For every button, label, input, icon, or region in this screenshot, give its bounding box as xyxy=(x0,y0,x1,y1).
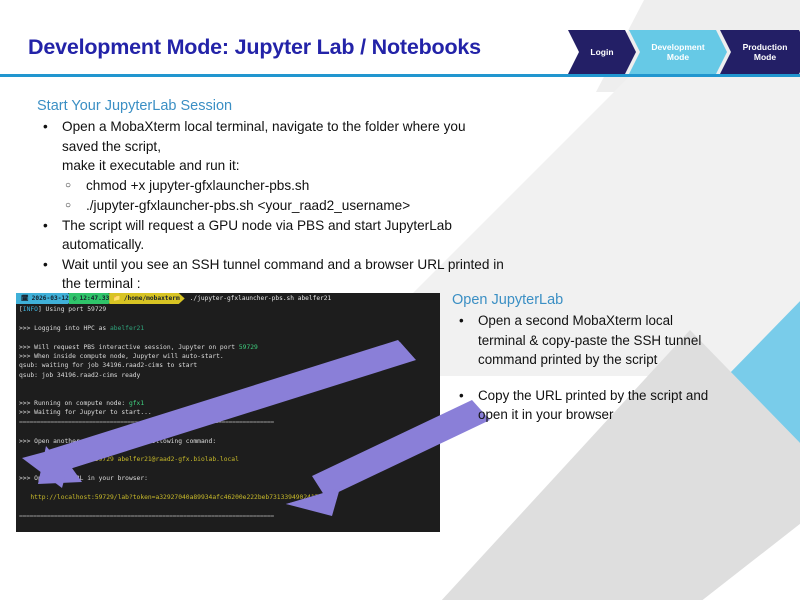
title-bar: Development Mode: Jupyter Lab / Notebook… xyxy=(28,26,573,68)
terminal-text: qsub: job 34196.raad2-cims ready xyxy=(19,372,140,379)
left-content-block: Start Your JupyterLab Session • Open a M… xyxy=(34,98,504,313)
bullet-marker: • xyxy=(459,386,464,406)
terminal-text: abelfer21 xyxy=(110,325,144,332)
terminal-status-bar: 🗓 2026-03-12 ◴ 12:47.33 📁 /home/mobaxter… xyxy=(16,293,440,304)
breadcrumb-chevron-nav: Login DevelopmentMode ProductionMode xyxy=(568,30,800,74)
list-item: • The script will request a GPU node via… xyxy=(34,216,504,255)
terminal-line xyxy=(19,465,440,474)
terminal-line: >>> Running on compute node: gfx1 xyxy=(19,399,440,408)
left-bullet-list: • Open a MobaXterm local terminal, navig… xyxy=(34,117,504,313)
terminal-text: INFO xyxy=(23,306,38,313)
bullet-text-line1: Wait until you see an SSH tunnel command… xyxy=(62,257,504,292)
terminal-text: >>> Open this URL in your browser: xyxy=(19,475,148,482)
terminal-line: ========================================… xyxy=(19,418,440,427)
list-item: • Copy the URL printed by the script and… xyxy=(452,386,782,425)
terminal-text: ssh -L 59729:gfx1:59729 abelfer21@raad2-… xyxy=(19,456,239,463)
terminal-text: ========================================… xyxy=(19,513,274,520)
terminal-text: http://localhost:59729/lab?token=a329270… xyxy=(19,494,337,501)
list-item: • Open a second MobaXterm local terminal… xyxy=(452,311,782,370)
calendar-icon: 🗓 xyxy=(21,294,29,303)
bullet-text-line1: Copy the URL printed by the script and xyxy=(478,388,708,403)
terminal-line xyxy=(19,380,440,389)
nav-chevron-development-mode[interactable]: DevelopmentMode xyxy=(629,30,727,74)
terminal-text: 59729 xyxy=(239,344,258,351)
bullet-text-line1: Open a second MobaXterm local xyxy=(478,313,673,328)
terminal-line: >>> When inside compute node, Jupyter wi… xyxy=(19,352,440,361)
terminal-date-segment: 🗓 2026-03-12 xyxy=(16,293,74,304)
terminal-line: http://localhost:59729/lab?token=a329270… xyxy=(19,493,440,502)
terminal-line xyxy=(19,333,440,342)
terminal-line xyxy=(19,314,440,323)
left-sub-list: ○ chmod +x jupyter-gfxlauncher-pbs.sh ○ … xyxy=(34,176,504,216)
bullet-marker: • xyxy=(459,311,464,331)
terminal-text: ] Using port 59729 xyxy=(38,306,106,313)
terminal-output-body: [INFO] Using port 59729>>> Logging into … xyxy=(16,304,440,521)
terminal-line: >>> Open another terminal and run follow… xyxy=(19,437,440,446)
terminal-time-value: 12:47.33 xyxy=(80,294,110,303)
terminal-path-value: /home/mobaxterm xyxy=(124,294,180,303)
bullet-marker: • xyxy=(43,117,48,137)
sub-bullet-text: ./jupyter-gfxlauncher-pbs.sh <your_raad2… xyxy=(86,198,410,213)
bullet-marker: • xyxy=(43,255,48,275)
terminal-command-text: ./jupyter-gfxlauncher-pbs.sh abelfer21 xyxy=(180,293,332,304)
terminal-path-segment: 📁 /home/mobaxterm xyxy=(109,293,184,304)
bullet-text-line2: make it executable and run it: xyxy=(62,158,240,173)
terminal-time-segment: ◴ 12:47.33 xyxy=(69,293,114,304)
terminal-text: >>> Logging into HPC as xyxy=(19,325,110,332)
terminal-line xyxy=(19,390,440,399)
right-content-block: Open JupyterLab • Open a second MobaXter… xyxy=(452,292,782,425)
list-item: ○ chmod +x jupyter-gfxlauncher-pbs.sh xyxy=(34,176,504,196)
terminal-line: qsub: job 34196.raad2-cims ready xyxy=(19,371,440,380)
sub-bullet-text: chmod +x jupyter-gfxlauncher-pbs.sh xyxy=(86,178,309,193)
terminal-line: ssh -L 59729:gfx1:59729 abelfer21@raad2-… xyxy=(19,455,440,464)
terminal-line: >>> Open this URL in your browser: xyxy=(19,474,440,483)
terminal-line xyxy=(19,502,440,511)
sub-bullet-marker: ○ xyxy=(65,176,71,196)
list-item: • Open a MobaXterm local terminal, navig… xyxy=(34,117,504,176)
nav-chevron-login[interactable]: Login xyxy=(568,30,636,74)
left-section-heading: Start Your JupyterLab Session xyxy=(37,98,504,114)
terminal-line: >>> Waiting for Jupyter to start... xyxy=(19,408,440,417)
terminal-date-value: 2026-03-12 xyxy=(32,294,69,303)
terminal-screenshot: 🗓 2026-03-12 ◴ 12:47.33 📁 /home/mobaxter… xyxy=(16,293,440,532)
folder-icon: 📁 xyxy=(113,294,120,303)
bullet-marker: • xyxy=(43,216,48,236)
terminal-line xyxy=(19,427,440,436)
bullet-text-line1: Open a MobaXterm local terminal, navigat… xyxy=(62,119,466,154)
terminal-text: >>> Running on compute node: xyxy=(19,400,129,407)
terminal-text: ========================================… xyxy=(19,419,274,426)
decor-white-notch xyxy=(700,520,800,600)
terminal-line: qsub: waiting for job 34196.raad2-cims t… xyxy=(19,361,440,370)
terminal-line xyxy=(19,446,440,455)
nav-chevron-production-mode-label: ProductionMode xyxy=(743,42,788,63)
terminal-text: >>> Will request PBS interactive session… xyxy=(19,344,239,351)
list-spacer xyxy=(452,370,782,386)
nav-chevron-login-label: Login xyxy=(590,47,613,58)
bullet-text-line3: command printed by the script xyxy=(478,352,657,367)
right-bullet-list: • Open a second MobaXterm local terminal… xyxy=(452,311,782,425)
page-title: Development Mode: Jupyter Lab / Notebook… xyxy=(28,26,573,68)
clock-icon: ◴ xyxy=(73,294,77,303)
nav-chevron-development-mode-label: DevelopmentMode xyxy=(651,42,704,63)
terminal-line: ========================================… xyxy=(19,512,440,521)
terminal-line: >>> Logging into HPC as abelfer21 xyxy=(19,324,440,333)
terminal-text: gfx1 xyxy=(129,400,144,407)
terminal-text: qsub: waiting for job 34196.raad2-cims t… xyxy=(19,362,197,369)
terminal-text: >>> Open another terminal and run follow… xyxy=(19,438,216,445)
terminal-text: >>> Waiting for Jupyter to start... xyxy=(19,409,152,416)
terminal-text: >>> When inside compute node, Jupyter wi… xyxy=(19,353,224,360)
bullet-text-line2: terminal & copy-paste the SSH tunnel xyxy=(478,333,701,348)
sub-bullet-marker: ○ xyxy=(65,196,71,216)
terminal-line: [INFO] Using port 59729 xyxy=(19,305,440,314)
bullet-text-line1: The script will request a GPU node via P… xyxy=(62,218,452,253)
title-divider xyxy=(0,74,800,77)
terminal-line xyxy=(19,484,440,493)
slide-canvas: Development Mode: Jupyter Lab / Notebook… xyxy=(0,0,800,600)
nav-chevron-production-mode[interactable]: ProductionMode xyxy=(720,30,800,74)
list-item: ○ ./jupyter-gfxlauncher-pbs.sh <your_raa… xyxy=(34,196,504,216)
terminal-line: >>> Will request PBS interactive session… xyxy=(19,343,440,352)
bullet-text-line2: open it in your browser xyxy=(478,407,613,422)
right-section-heading: Open JupyterLab xyxy=(452,292,782,308)
